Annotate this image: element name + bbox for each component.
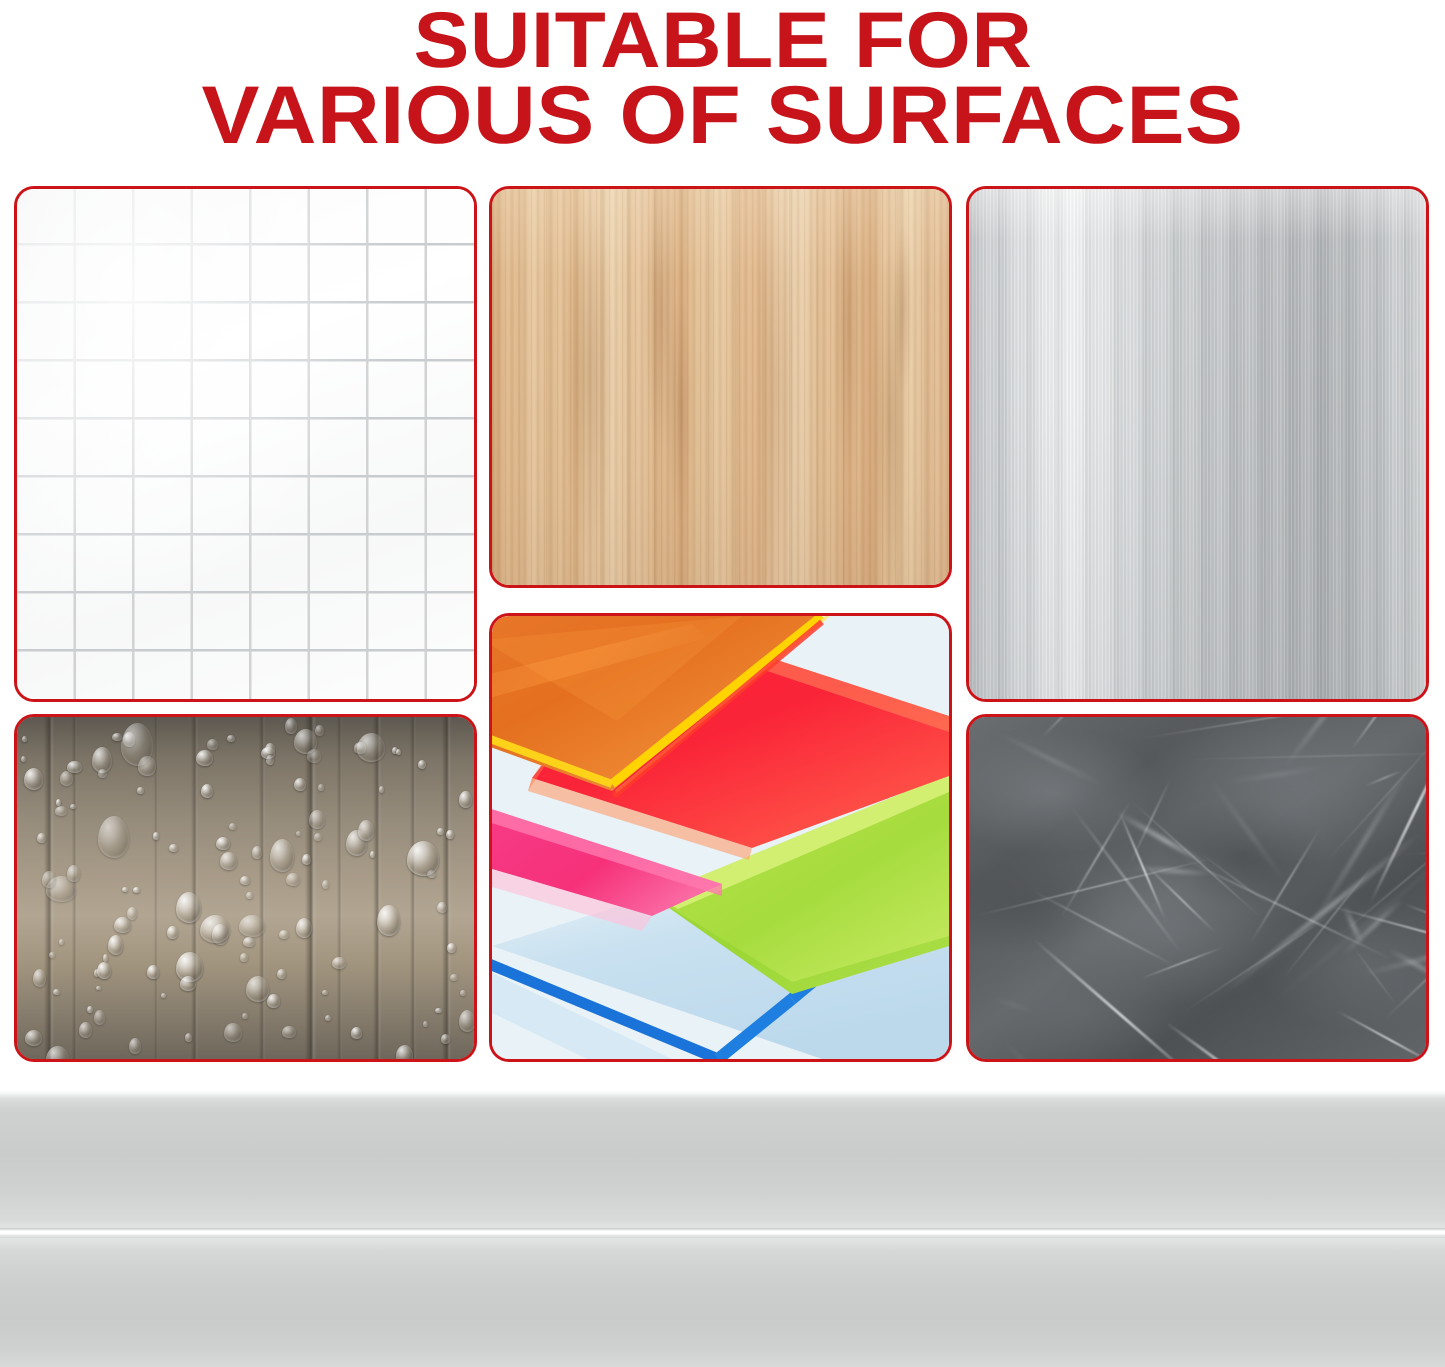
plastic-texture bbox=[492, 616, 949, 1059]
marble-texture bbox=[969, 717, 1426, 1059]
acrylic-sheets-illustration bbox=[492, 616, 949, 1059]
surface-card-plastic: Plastic bbox=[489, 613, 952, 1062]
bottom-strip-divider bbox=[0, 1228, 1445, 1238]
wood-texture bbox=[492, 189, 949, 585]
metal-texture bbox=[969, 189, 1426, 699]
glass-texture bbox=[17, 717, 474, 1059]
glass-streaks bbox=[17, 717, 474, 1059]
headline-line-2: VARIOUS OF SURFACES bbox=[202, 78, 1244, 154]
surface-card-glass: Glass bbox=[14, 714, 477, 1062]
headline-line-1: SUITABLE FOR bbox=[413, 2, 1032, 78]
tiles-texture bbox=[17, 189, 474, 699]
surface-card-tiles: Tiles bbox=[14, 186, 477, 702]
surface-card-marble: Marble bbox=[966, 714, 1429, 1062]
bottom-strip-lower bbox=[0, 1238, 1445, 1367]
bottom-strip-upper bbox=[0, 1090, 1445, 1232]
headline-block: SUITABLE FOR VARIOUS OF SURFACES bbox=[0, 0, 1445, 172]
bottom-surface-strip bbox=[0, 1090, 1445, 1367]
surface-card-wood: Wood bbox=[489, 186, 952, 588]
surface-card-metal: Metal bbox=[966, 186, 1429, 702]
